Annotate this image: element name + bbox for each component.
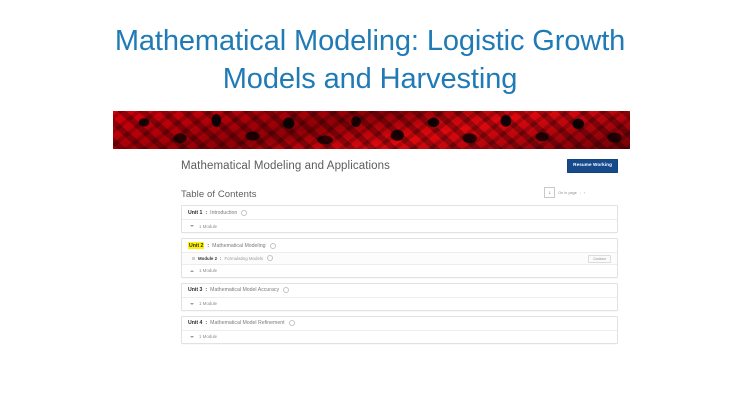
- page-number-input[interactable]: 1: [544, 187, 555, 198]
- course-page-body: Mathematical Modeling and Applications R…: [113, 149, 630, 373]
- resume-working-button[interactable]: Resume Working: [567, 159, 618, 173]
- unit-header[interactable]: Unit 2 : Mathematical Modeling: [182, 239, 617, 252]
- info-icon[interactable]: [289, 320, 295, 326]
- slide: Mathematical Modeling: Logistic Growth M…: [0, 0, 740, 416]
- unit-module-toggle[interactable]: 1 Module: [182, 297, 617, 310]
- chevron-down-icon[interactable]: [190, 225, 194, 227]
- module-count-label: 1 Module: [199, 268, 217, 273]
- chevron-down-icon[interactable]: [190, 336, 194, 338]
- embedded-screenshot: Mathematical Modeling and Applications R…: [113, 111, 630, 373]
- unit-card[interactable]: Unit 3 : Mathematical Model Accuracy 1 M…: [181, 283, 618, 311]
- module-count-label: 1 Module: [199, 334, 217, 339]
- unit-card[interactable]: Unit 4 : Mathematical Model Refinement 1…: [181, 316, 618, 344]
- next-page-icon[interactable]: ›: [584, 191, 585, 195]
- slide-title-line-2: Models and Harvesting: [60, 60, 680, 98]
- unit-number: Unit 3: [188, 287, 202, 293]
- module-count-label: 1 Module: [199, 301, 217, 306]
- unit-module-toggle[interactable]: 1 Module: [182, 219, 617, 232]
- table-of-contents-header: Table of Contents 1 On in page | ›: [113, 183, 630, 205]
- unit-list: Unit 1 : Introduction 1 Module Unit 2 :: [113, 205, 630, 344]
- unit-module-toggle[interactable]: 1 Module: [182, 330, 617, 343]
- unit-card[interactable]: Unit 2 : Mathematical Modeling Module 2 …: [181, 238, 618, 278]
- chevron-down-icon[interactable]: [190, 303, 194, 305]
- unit-separator: :: [205, 287, 207, 293]
- module-row[interactable]: Module 2 : Formulating Models Continue: [182, 253, 617, 264]
- pager-divider: |: [580, 191, 581, 195]
- unit-name: Mathematical Modeling: [212, 243, 265, 249]
- info-icon[interactable]: [283, 287, 289, 293]
- unit-name: Mathematical Model Refinement: [210, 320, 284, 326]
- module-name: Formulating Models: [225, 256, 264, 261]
- module-count-label: 1 Module: [199, 224, 217, 229]
- pagination-control[interactable]: 1 On in page | ›: [544, 187, 585, 198]
- table-of-contents-heading: Table of Contents: [181, 189, 257, 200]
- unit-separator: :: [207, 243, 209, 249]
- course-header: Mathematical Modeling and Applications R…: [113, 149, 630, 183]
- unit-header[interactable]: Unit 4 : Mathematical Model Refinement: [182, 317, 617, 330]
- module-separator: :: [220, 256, 221, 261]
- unit-separator: :: [205, 210, 207, 216]
- module-bullet-icon: [192, 257, 195, 260]
- slide-title: Mathematical Modeling: Logistic Growth M…: [60, 22, 680, 99]
- unit-header[interactable]: Unit 1 : Introduction: [182, 206, 617, 219]
- info-icon[interactable]: [241, 210, 247, 216]
- unit-name: Mathematical Model Accuracy: [210, 287, 279, 293]
- info-icon[interactable]: [270, 243, 276, 249]
- course-title: Mathematical Modeling and Applications: [181, 160, 390, 172]
- course-banner-image: [113, 111, 630, 149]
- unit-module-toggle[interactable]: 1 Module: [182, 264, 617, 277]
- unit-card[interactable]: Unit 1 : Introduction 1 Module: [181, 205, 618, 233]
- page-label: On in page: [558, 191, 577, 195]
- slide-title-line-1: Mathematical Modeling: Logistic Growth: [60, 22, 680, 60]
- continue-button[interactable]: Continue: [588, 255, 611, 263]
- chevron-up-icon[interactable]: [190, 270, 194, 272]
- unit-separator: :: [205, 320, 207, 326]
- unit-header[interactable]: Unit 3 : Mathematical Model Accuracy: [182, 284, 617, 297]
- unit-number: Unit 4: [188, 320, 202, 326]
- info-icon[interactable]: [267, 255, 273, 261]
- unit-number-highlighted: Unit 2: [188, 242, 204, 249]
- unit-name: Introduction: [210, 210, 237, 216]
- module-number: Module 2: [198, 256, 217, 261]
- unit-number: Unit 1: [188, 210, 202, 216]
